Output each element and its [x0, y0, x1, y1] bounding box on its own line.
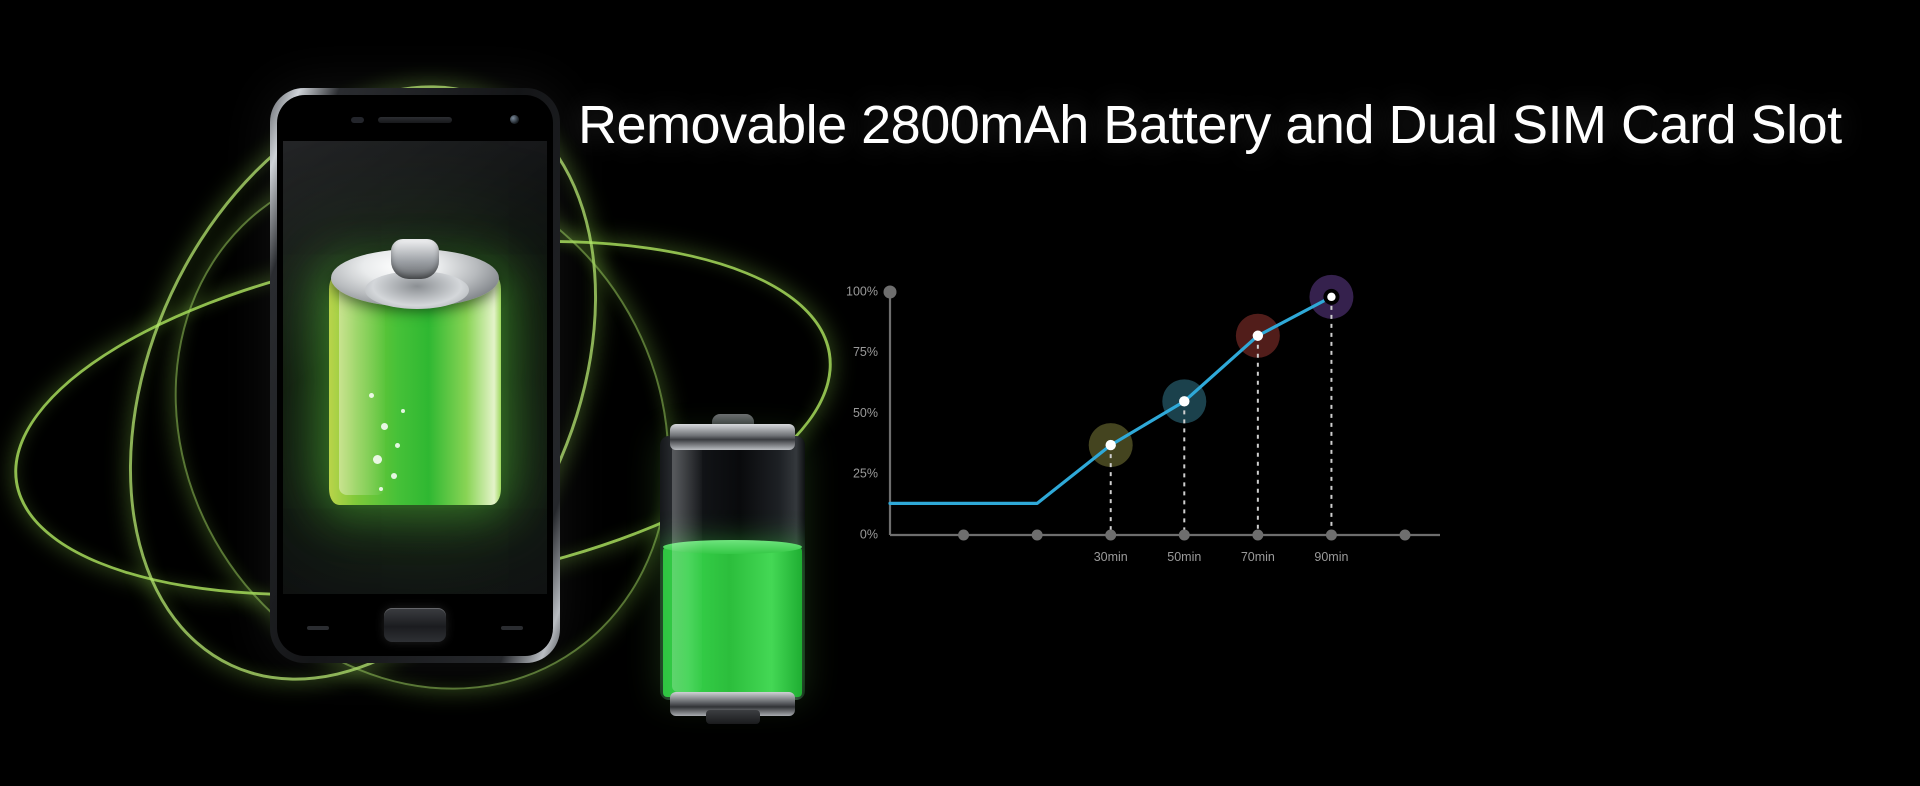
y-tick-label: 75% — [853, 345, 878, 359]
y-tick-label: 25% — [853, 467, 878, 481]
charging-speed-chart: 0%25%50%75%100% 30min50min70min90min — [840, 270, 1460, 580]
battery-icon — [660, 418, 805, 718]
chart-droplines — [1111, 297, 1332, 535]
x-axis-tick-dot — [1105, 530, 1116, 541]
x-axis-tick-labels: 30min50min70min90min — [1094, 550, 1349, 564]
screen-reflection — [283, 141, 547, 444]
data-point-marker[interactable] — [1327, 293, 1335, 301]
battery-top-cap — [670, 424, 795, 450]
home-button[interactable] — [384, 608, 446, 642]
front-camera-icon — [510, 115, 519, 124]
battery-base-contact — [706, 710, 760, 724]
x-axis-tick-dot — [1179, 530, 1190, 541]
x-tick-label: 50min — [1167, 550, 1201, 564]
proximity-sensor-icon — [351, 117, 364, 123]
earpiece-speaker-icon — [378, 117, 452, 123]
x-axis-tick-dot — [1326, 530, 1337, 541]
battery-shell — [660, 436, 805, 700]
x-tick-label: 30min — [1094, 550, 1128, 564]
phone-chassis — [277, 95, 553, 656]
battery-highlight — [672, 442, 702, 692]
page-title: Removable 2800mAh Battery and Dual SIM C… — [578, 96, 1842, 155]
y-tick-label: 0% — [860, 527, 878, 541]
data-point-marker[interactable] — [1253, 331, 1263, 341]
smartphone-icon — [270, 88, 560, 663]
x-axis-tick-dot — [958, 530, 969, 541]
y-axis-tick-labels: 0%25%50%75%100% — [846, 284, 878, 541]
x-axis-tick-dot — [1032, 530, 1043, 541]
banner-stage: Removable 2800mAh Battery and Dual SIM C… — [0, 0, 1920, 786]
x-tick-label: 70min — [1241, 550, 1275, 564]
x-axis-tick-dot — [1400, 530, 1411, 541]
x-tick-label: 90min — [1314, 550, 1348, 564]
data-point-marker[interactable] — [1106, 440, 1116, 450]
chart-canvas: 0%25%50%75%100% 30min50min70min90min — [840, 270, 1460, 580]
y-axis-cap-dot — [884, 286, 897, 299]
menu-softkey-icon — [307, 626, 329, 630]
data-point-marker[interactable] — [1179, 396, 1189, 406]
y-tick-label: 100% — [846, 284, 878, 298]
phone-screen — [283, 141, 547, 594]
back-softkey-icon — [501, 626, 523, 630]
x-axis-tick-dot — [1252, 530, 1263, 541]
y-tick-label: 50% — [853, 406, 878, 420]
chart-point-halos — [1089, 275, 1354, 467]
